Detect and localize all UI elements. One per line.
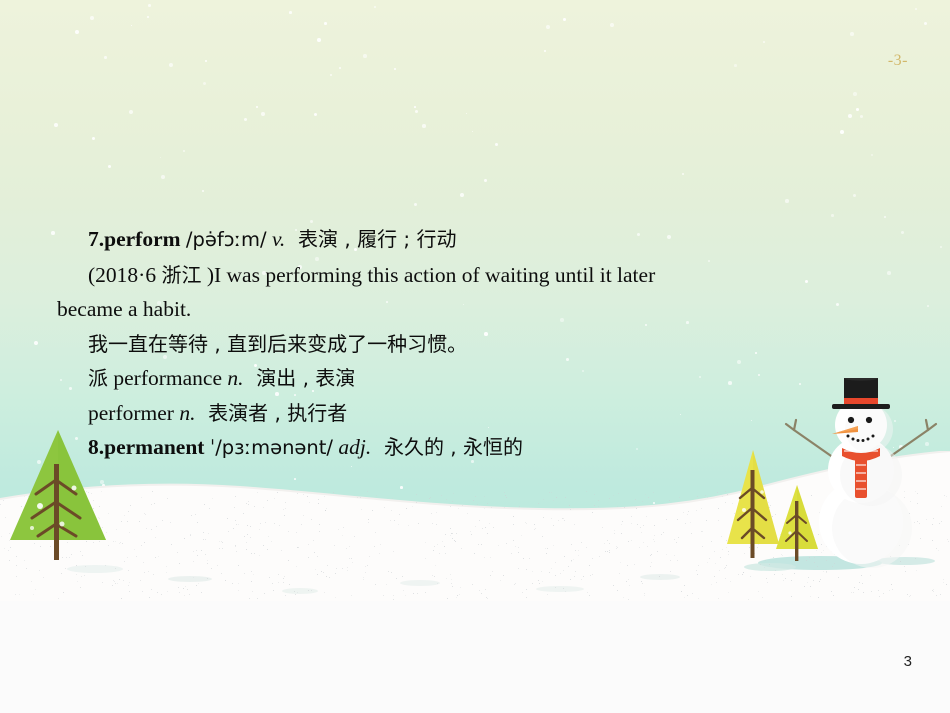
snowflake xyxy=(927,305,929,307)
snowflake xyxy=(785,199,789,203)
snowflake xyxy=(339,67,341,69)
text-segment: became a habit. xyxy=(57,297,191,321)
snowflake xyxy=(330,74,332,76)
snowflake xyxy=(850,32,854,36)
text-segment: 浙江 xyxy=(161,263,201,287)
snowflake xyxy=(414,203,417,206)
text-segment: 表演者 , 执行者 xyxy=(195,401,347,425)
snowflake xyxy=(484,179,487,182)
text-line-example-translation: 我一直在等待 , 直到后来变成了一种习惯。 xyxy=(0,327,900,362)
text-line-derivative-performance: 派 performance n. 演出 , 表演 xyxy=(0,361,900,396)
document-page: -3- 7.perform /pə̇fɔːm/ v. 表演 , 履行 ; 行动(… xyxy=(0,0,950,713)
snowflake xyxy=(495,143,498,146)
snowflake xyxy=(244,118,247,121)
text-segment: adj. xyxy=(338,435,371,459)
snowflake xyxy=(610,23,614,27)
snowflake xyxy=(460,193,464,197)
text-segment: 表演 , 履行 ; 行动 xyxy=(285,227,456,251)
text-segment: 8.permanent xyxy=(88,435,204,459)
snowflake xyxy=(414,106,416,108)
snowflake xyxy=(374,6,376,8)
snowflake xyxy=(147,16,149,18)
snowflake xyxy=(324,22,327,25)
snowflake xyxy=(763,41,765,43)
snowflake xyxy=(901,231,904,234)
snowflake xyxy=(104,56,107,59)
text-segment: n. xyxy=(179,401,195,425)
snowflake xyxy=(54,123,58,127)
snowflake xyxy=(940,246,942,248)
snowflake xyxy=(317,38,321,42)
document-page-number: 3 xyxy=(904,653,912,670)
snowflake xyxy=(871,154,873,156)
snowflake xyxy=(924,22,927,25)
text-segment: 演出 , 表演 xyxy=(244,366,356,390)
text-line-example-sentence-wrap: became a habit. xyxy=(0,292,900,327)
snowflake xyxy=(853,194,856,197)
snowflake xyxy=(261,112,265,116)
snowflake xyxy=(202,190,204,192)
snowflake xyxy=(169,63,173,67)
snowflake xyxy=(546,25,550,29)
text-segment: 7.perform xyxy=(88,227,181,251)
snowflake xyxy=(148,4,151,7)
snowflake xyxy=(853,92,857,96)
snowflake xyxy=(472,131,473,132)
snowflake xyxy=(363,54,367,58)
snowflake xyxy=(831,214,834,217)
snowflake xyxy=(108,165,111,168)
snowflake xyxy=(422,124,426,128)
snowflake xyxy=(856,108,859,111)
snowflake xyxy=(92,137,95,140)
snowflake xyxy=(256,106,258,108)
text-segment: n. xyxy=(227,366,243,390)
snowflake xyxy=(314,113,317,116)
snowflake xyxy=(563,18,566,21)
text-segment: v. xyxy=(272,227,285,251)
text-segment: ˈ/pɜːmənənt/ xyxy=(210,436,333,459)
snowflake xyxy=(161,175,165,179)
snowflake xyxy=(682,173,684,175)
text-line-example-source-and-sentence: (2018·6 浙江 )I was performing this action… xyxy=(0,258,900,293)
snowflake xyxy=(544,50,546,52)
snowflake xyxy=(860,115,863,118)
snowflake xyxy=(203,82,206,85)
snowflake xyxy=(415,110,418,113)
snowflake xyxy=(289,11,292,14)
text-segment: performance xyxy=(108,366,227,390)
text-line-entry-7: 7.perform /pə̇fɔːm/ v. 表演 , 履行 ; 行动 xyxy=(0,222,900,258)
slide-page-marker: -3- xyxy=(888,52,908,70)
snowflake xyxy=(734,64,737,67)
document-paper-area: 3 xyxy=(0,601,950,713)
text-segment: 永久的 , 永恒的 xyxy=(371,435,523,459)
snowflake xyxy=(840,130,844,134)
vocabulary-text-block: 7.perform /pə̇fɔːm/ v. 表演 , 履行 ; 行动(2018… xyxy=(0,222,900,466)
text-line-entry-8: 8.permanent ˈ/pɜːmənənt/ adj. 永久的 , 永恒的 xyxy=(0,430,900,466)
text-segment: /pə̇fɔːm/ xyxy=(186,228,267,251)
snowflake xyxy=(394,68,396,70)
text-line-derivative-performer: performer n. 表演者 , 执行者 xyxy=(0,396,900,431)
snowflake xyxy=(90,16,94,20)
snowflake xyxy=(915,8,917,10)
snowflake xyxy=(129,110,133,114)
snowflake xyxy=(131,25,132,26)
text-segment: 我一直在等待 , 直到后来变成了一种习惯。 xyxy=(88,332,467,356)
text-segment: (2018·6 xyxy=(88,263,161,287)
snowflake xyxy=(884,216,886,218)
text-segment: performer xyxy=(88,401,179,425)
snowflake xyxy=(183,150,185,152)
text-segment: 派 xyxy=(88,366,108,390)
text-segment: )I was performing this action of waiting… xyxy=(201,263,655,287)
snowflake xyxy=(160,157,161,158)
snowflake xyxy=(848,114,852,118)
presentation-slide: -3- 7.perform /pə̇fɔːm/ v. 表演 , 履行 ; 行动(… xyxy=(0,0,950,601)
snowflake xyxy=(75,30,79,34)
snowflake xyxy=(466,113,467,114)
snowflake xyxy=(205,60,207,62)
